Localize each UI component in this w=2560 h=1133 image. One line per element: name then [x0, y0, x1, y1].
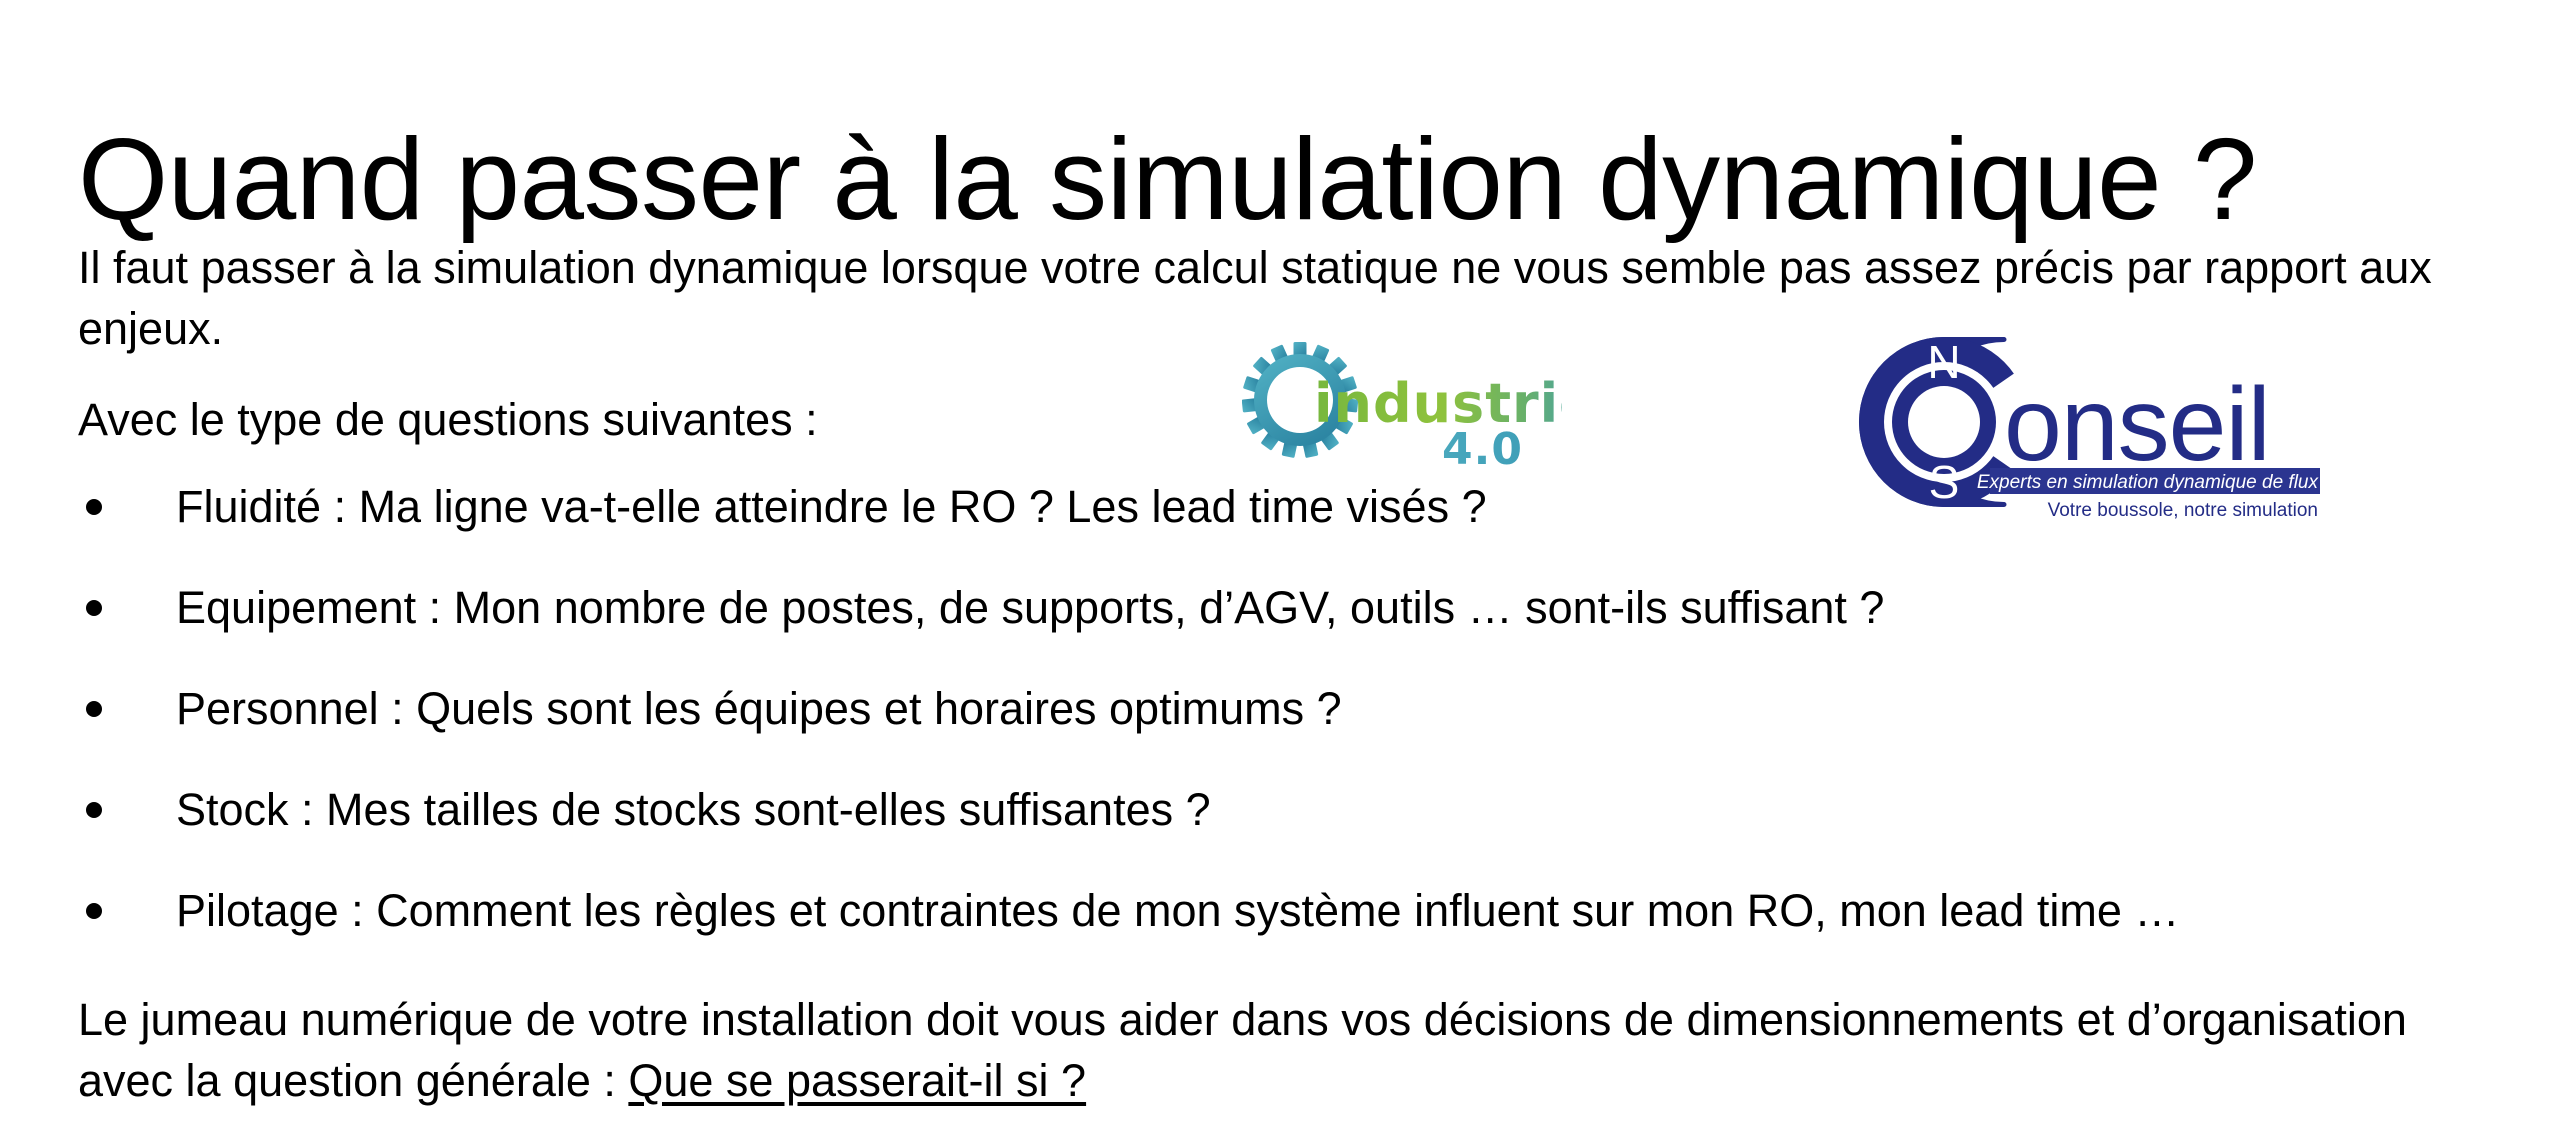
conseil-wordmark: onseil	[2004, 367, 2270, 483]
bullet-dot-icon	[86, 701, 102, 717]
list-item: Personnel : Quels sont les équipes et ho…	[78, 686, 2488, 731]
industrie-version: 4.0	[1442, 424, 1523, 470]
list-item-label: Fluidité : Ma ligne va-t-elle atteindre …	[176, 481, 1487, 532]
closing-text: Le jumeau numérique de votre installatio…	[78, 994, 2407, 1106]
conseil-logo: N S onseil Experts en simulation dynamiq…	[1852, 330, 2322, 542]
list-item-label: Pilotage : Comment les règles et contrai…	[176, 885, 2179, 936]
list-item-label: Equipement : Mon nombre de postes, de su…	[176, 582, 1884, 633]
list-item: Pilotage : Comment les règles et contrai…	[78, 888, 2488, 933]
tagline-primary: Experts en simulation dynamique de flux	[1977, 472, 2320, 493]
page-title: Quand passer à la simulation dynamique ?	[78, 112, 2498, 247]
industrie-wordmark: industrie	[1314, 372, 1562, 435]
closing-emphasis: Que se passerait-il si ?	[628, 1055, 1086, 1106]
industrie-4-0-logo: industrie 4.0	[1242, 338, 1562, 470]
closing-paragraph: Le jumeau numérique de votre installatio…	[78, 989, 2488, 1111]
bullet-dot-icon	[86, 802, 102, 818]
question-bullet-list: Fluidité : Ma ligne va-t-elle atteindre …	[78, 484, 2488, 933]
list-item: Equipement : Mon nombre de postes, de su…	[78, 585, 2488, 630]
bullet-dot-icon	[86, 499, 102, 515]
bullet-dot-icon	[86, 600, 102, 616]
list-item: Stock : Mes tailles de stocks sont-elles…	[78, 787, 2488, 832]
bullet-dot-icon	[86, 903, 102, 919]
tagline-secondary: Votre boussole, notre simulation	[2048, 500, 2318, 521]
compass-south-letter: S	[1929, 456, 1960, 508]
list-item-label: Personnel : Quels sont les équipes et ho…	[176, 683, 1342, 734]
list-item-label: Stock : Mes tailles de stocks sont-elles…	[176, 784, 1211, 835]
compass-north-letter: N	[1927, 336, 1960, 388]
slide-root: Quand passer à la simulation dynamique ?…	[0, 0, 2560, 1133]
